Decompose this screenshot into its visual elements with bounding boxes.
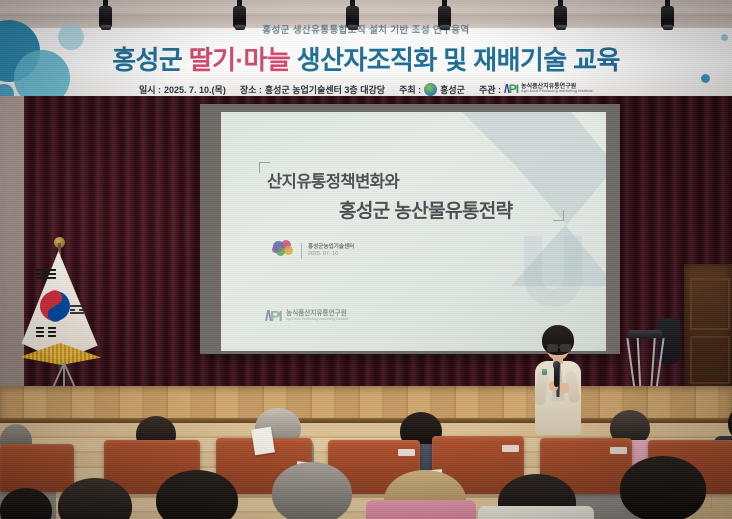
stage-light [232,0,247,32]
banner-date: 일시 : 2025. 7. 10.(목) [139,83,226,96]
stage-folding-chair [628,330,664,390]
banner-title-part2: 생산자조직화 및 재배기술 교육 [290,45,620,75]
presenter-badge [542,369,547,375]
slide-title-line1: 산지유통정책변화와 [267,168,399,192]
api-logo-icon: /\PI [504,82,518,96]
banner-organizer: 주관 : /\PI 농식품산지유통연구원 Agri-food Producing… [479,82,593,96]
audience-shirt [478,506,594,519]
wooden-podium [684,264,732,394]
slide-u-watermark [518,236,588,308]
audience-head [620,456,706,519]
banner-title-highlight: 딸기·마늘 [189,45,290,75]
api-logo-icon: /\PI [265,308,281,325]
slide-bracket-bottom-right [553,210,564,221]
stage-light [660,0,675,32]
naeppo-emblem-icon [271,240,295,262]
trigram-geon-icon [36,269,56,279]
audience-shirt [366,500,476,519]
banner-place-label: 장소 : [240,83,262,96]
trigram-gon-icon [36,327,56,337]
handout-paper [251,427,275,456]
slide-footer-org-en: Agri-food Producing marketing Institute [286,318,349,322]
banner-organizer-label: 주관 : [479,83,501,96]
slide-credit-text: 홍성군농업기술센터 2025. 07. 10 [308,245,354,258]
stage-light [553,0,568,32]
banner-title: 홍성군 딸기·마늘 생산자조직화 및 재배기술 교육 [0,40,732,77]
banner-place-value: 홍성군 농업기술센터 3층 대강당 [265,83,385,96]
banner-place: 장소 : 홍성군 농업기술센터 3층 대강당 [240,83,385,96]
seminar-photo: 홍성군 생산유통통합조직 설치 기반 조성 연구용역 홍성군 딸기·마늘 생산자… [0,0,732,519]
slide-title-line2: 홍성군 농산물유통전략 [339,196,512,223]
slide-credit-date: 2025. 07. 10 [308,252,354,257]
banner-info-row: 일시 : 2025. 7. 10.(목) 장소 : 홍성군 농업기술센터 3층 … [0,82,732,96]
presenter-person [527,325,589,435]
banner-host-value: 홍성군 [440,83,465,96]
banner-organizer-text: 농식품산지유통연구원 Agri-food Producing marketing… [521,84,593,94]
slide-credit-org: 홍성군농업기술센터 [308,245,354,251]
hongseong-emblem-icon [424,83,437,96]
projection-screen: 산지유통정책변화와 홍성군 농산물유통전략 홍성군농업기술센터 2025. 07… [221,112,606,351]
presenter-hand-right [560,383,569,393]
banner-organizer-en: Agri-food Producing marketing Institute [521,90,593,94]
banner-date-value: 2025. 7. 10.(목) [164,83,226,96]
stage-light [437,0,452,32]
banner-host-label: 주최 : [399,83,421,96]
eyeglasses-icon [547,344,569,350]
slide-footer-text: 농식품산지유통연구원 Agri-food Producing marketing… [286,311,349,321]
banner-title-part1: 홍성군 [112,45,189,75]
slide-credit-divider [301,243,302,259]
microphone-icon [554,365,559,387]
stage-light [345,0,360,32]
auditorium-chair[interactable] [0,444,74,492]
banner-host: 주최 : 홍성군 [399,83,465,96]
audience-head [272,462,352,519]
banner-date-label: 일시 : [139,83,161,96]
trigram-gam-icon [70,305,84,314]
stage-light [98,0,113,32]
slide-credit-block: 홍성군농업기술센터 2025. 07. 10 [271,240,354,262]
slide-footer-logo: /\PI 농식품산지유통연구원 Agri-food Producing mark… [265,308,349,325]
